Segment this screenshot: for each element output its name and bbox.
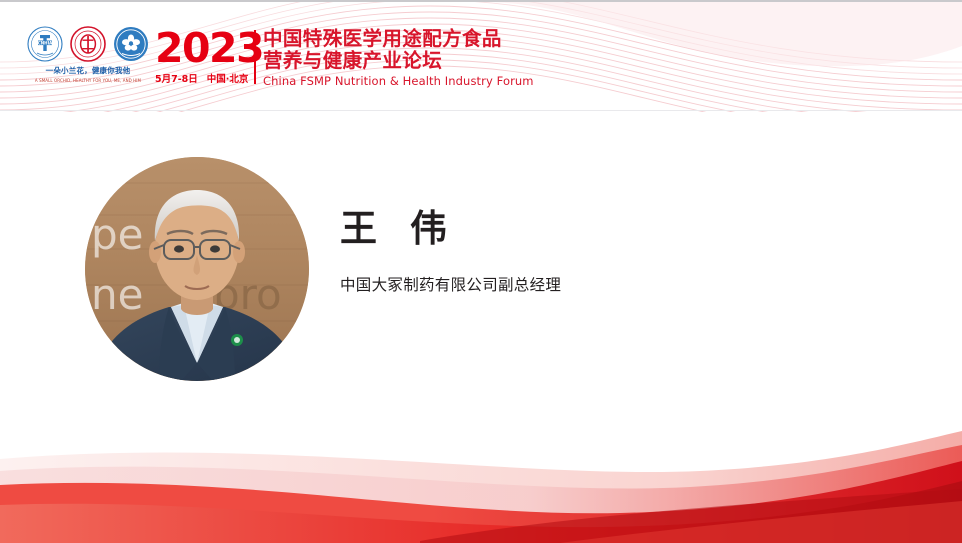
event-title-block: 中国特殊医学用途配方食品 营养与健康产业论坛 China FSMP Nutrit…	[263, 28, 534, 88]
event-year: 2023	[155, 28, 250, 68]
orchid-emblem-icon	[113, 26, 149, 62]
svg-text:pe: pe	[91, 210, 144, 259]
cnhia-emblem-icon: CNHIA	[27, 26, 63, 62]
speaker-info: 王 伟 中国大冢制药有限公司副总经理	[340, 207, 860, 295]
organizer-logos: CNHIA	[24, 26, 152, 88]
logo-tagline-cn: 一朵小兰花，健康你我他	[24, 65, 152, 76]
svg-text:CNHIA: CNHIA	[38, 41, 53, 46]
speaker-title: 中国大冢制药有限公司副总经理	[340, 273, 860, 295]
speaker-portrait: pe e ne pro	[85, 157, 309, 381]
svg-text:ne: ne	[91, 270, 143, 319]
header-banner: CNHIA	[0, 2, 962, 112]
event-date: 5月7-8日	[155, 71, 198, 85]
association-emblem-icon	[70, 26, 106, 62]
header-vertical-divider	[254, 30, 256, 84]
presentation-slide: CNHIA	[0, 0, 962, 543]
event-title-cn-line1: 中国特殊医学用途配方食品	[263, 28, 534, 50]
logo-tagline-en: A SMALL ORCHID, HEALTHY FOR YOU, ME, AND…	[27, 78, 149, 83]
event-title-cn-line2: 营养与健康产业论坛	[263, 50, 534, 72]
speaker-name: 王 伟	[340, 207, 860, 251]
event-year-block: 2023 5月7-8日 中国·北京	[155, 28, 250, 85]
event-location: 中国·北京	[207, 71, 249, 85]
header-divider	[0, 110, 962, 111]
footer-wave-decoration	[0, 413, 962, 543]
event-title-en: China FSMP Nutrition & Health Industry F…	[263, 74, 534, 88]
